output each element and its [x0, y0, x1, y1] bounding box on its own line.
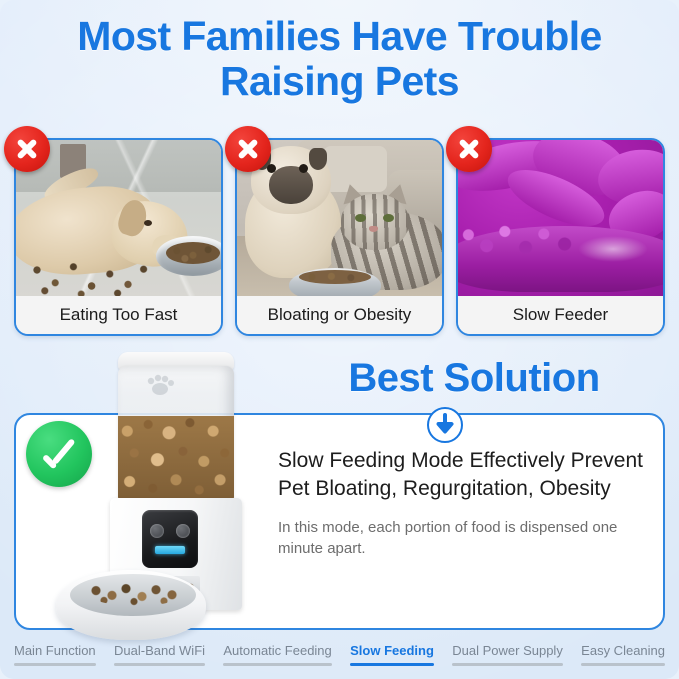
feeder-bowl-kibble [86, 578, 186, 606]
feeder-button-right[interactable] [176, 524, 190, 538]
chewed-purple-slow-feeder-photo [458, 140, 663, 300]
photo-pug-ear-right [309, 148, 327, 170]
photo-cat-nose [369, 226, 378, 232]
feeder-kibble [118, 416, 234, 500]
photo-bowl-kibble [166, 242, 220, 264]
problem-card-bloating-or-obesity[interactable]: Bloating or Obesity [235, 138, 444, 336]
arrow-down-circle-icon [426, 406, 464, 444]
tab-automatic-feeding[interactable]: Automatic Feeding [217, 641, 337, 670]
solution-main-text: Slow Feeding Mode Effectively Prevent Pe… [278, 447, 656, 503]
x-mark-icon [4, 126, 50, 172]
problem-card-label: Bloating or Obesity [237, 296, 442, 334]
feeder-button-left[interactable] [150, 524, 164, 538]
tab-main-function[interactable]: Main Function [8, 641, 102, 670]
tab-label: Automatic Feeding [223, 643, 331, 658]
solution-text-block: Slow Feeding Mode Effectively Prevent Pe… [278, 447, 656, 559]
headline-line-2: Raising Pets [0, 59, 679, 104]
photo-cat-head [341, 194, 409, 250]
problem-card-label: Eating Too Fast [16, 296, 221, 334]
feature-tabs: Main Function Dual-Band WiFi Automatic F… [0, 641, 679, 679]
photo-highlight [578, 236, 648, 262]
brand-paw-logo-icon [142, 374, 178, 400]
problem-cards-row: Eating Too Fast [14, 138, 665, 336]
check-mark-icon [26, 421, 92, 487]
photo-pug-eye-right [299, 164, 308, 173]
x-mark-icon [446, 126, 492, 172]
best-solution-heading: Best Solution [272, 356, 676, 400]
tab-dual-power-supply[interactable]: Dual Power Supply [446, 641, 569, 670]
photo-pug-eye-left [267, 164, 276, 173]
photo-cat-eye-right [383, 214, 394, 222]
tab-slow-feeding[interactable]: Slow Feeding [344, 641, 440, 670]
tab-label: Main Function [14, 643, 96, 658]
page-title: Most Families Have Trouble Raising Pets [0, 14, 679, 104]
tab-underline [223, 663, 331, 666]
dog-eating-fast-photo [16, 140, 221, 300]
solution-sub-text: In this mode, each portion of food is di… [278, 517, 656, 559]
tab-label: Dual Power Supply [452, 643, 563, 658]
infographic-page: Most Families Have Trouble Raising Pets … [0, 0, 679, 679]
tab-easy-cleaning[interactable]: Easy Cleaning [575, 641, 671, 670]
obese-pug-and-cat-photo [237, 140, 442, 300]
white-automatic-pet-feeder-photo [60, 352, 292, 642]
feeder-control-panel[interactable] [142, 510, 198, 568]
problem-card-label: Slow Feeder [458, 296, 663, 334]
x-mark-icon [225, 126, 271, 172]
photo-chewed-edge [458, 218, 588, 260]
feeder-led-display [155, 546, 185, 554]
tab-underline [452, 663, 563, 666]
tab-underline-active [350, 663, 434, 666]
tab-label: Dual-Band WiFi [114, 643, 205, 658]
problem-card-slow-feeder[interactable]: Slow Feeder [456, 138, 665, 336]
photo-cat-eye-left [355, 214, 366, 222]
tab-label: Slow Feeding [350, 643, 434, 658]
photo-dog-eye [144, 220, 152, 226]
photo-spilled-kibble [24, 258, 154, 298]
photo-bowl-kibble [299, 270, 371, 284]
tab-label: Easy Cleaning [581, 643, 665, 658]
tab-dual-band-wifi[interactable]: Dual-Band WiFi [108, 641, 211, 670]
headline-line-1: Most Families Have Trouble [77, 13, 601, 59]
tab-underline [114, 663, 205, 666]
tab-underline [581, 663, 665, 666]
tab-underline [14, 663, 96, 666]
problem-card-eating-too-fast[interactable]: Eating Too Fast [14, 138, 223, 336]
